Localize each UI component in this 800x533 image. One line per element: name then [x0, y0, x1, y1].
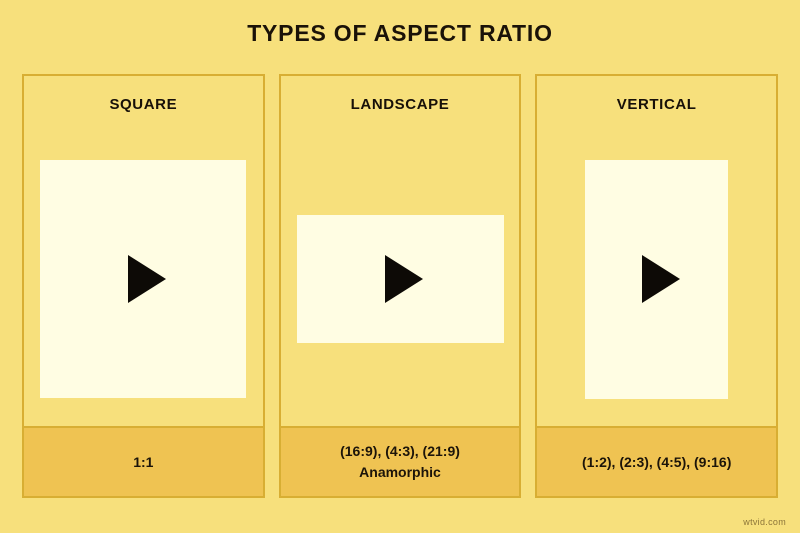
- play-triangle-icon: [385, 255, 423, 303]
- screen-frame-square: [40, 160, 246, 398]
- aspect-ratio-card-list: SQUARE 1:1 LANDSCAPE (16:9), (4:3), (21:…: [22, 74, 778, 498]
- card-title-vertical: VERTICAL: [537, 76, 776, 132]
- card-footer-landscape: (16:9), (4:3), (21:9) Anamorphic: [281, 426, 520, 496]
- ratio-line-primary-vertical: (1:2), (2:3), (4:5), (9:16): [582, 453, 731, 472]
- screen-frame-landscape: [297, 215, 504, 343]
- play-triangle-icon: [128, 255, 166, 303]
- aspect-ratio-card-square: SQUARE 1:1: [22, 74, 265, 498]
- screen-frame-vertical: [585, 160, 728, 399]
- card-preview-vertical: [537, 132, 776, 426]
- ratio-line-secondary-landscape: Anamorphic: [359, 463, 441, 482]
- ratio-line-primary-landscape: (16:9), (4:3), (21:9): [340, 442, 460, 461]
- card-title-square: SQUARE: [24, 76, 263, 132]
- watermark: wtvid.com: [743, 517, 786, 527]
- page-title: TYPES OF ASPECT RATIO: [0, 20, 800, 47]
- play-triangle-icon: [642, 255, 680, 303]
- card-footer-vertical: (1:2), (2:3), (4:5), (9:16): [537, 426, 776, 496]
- aspect-ratio-card-landscape: LANDSCAPE (16:9), (4:3), (21:9) Anamorph…: [279, 74, 522, 498]
- card-title-landscape: LANDSCAPE: [281, 76, 520, 132]
- card-preview-landscape: [281, 132, 520, 426]
- card-footer-square: 1:1: [24, 426, 263, 496]
- aspect-ratio-card-vertical: VERTICAL (1:2), (2:3), (4:5), (9:16): [535, 74, 778, 498]
- ratio-line-primary-square: 1:1: [133, 453, 153, 472]
- infographic-root: TYPES OF ASPECT RATIO SQUARE 1:1 LANDSCA…: [0, 0, 800, 533]
- card-preview-square: [24, 132, 263, 426]
